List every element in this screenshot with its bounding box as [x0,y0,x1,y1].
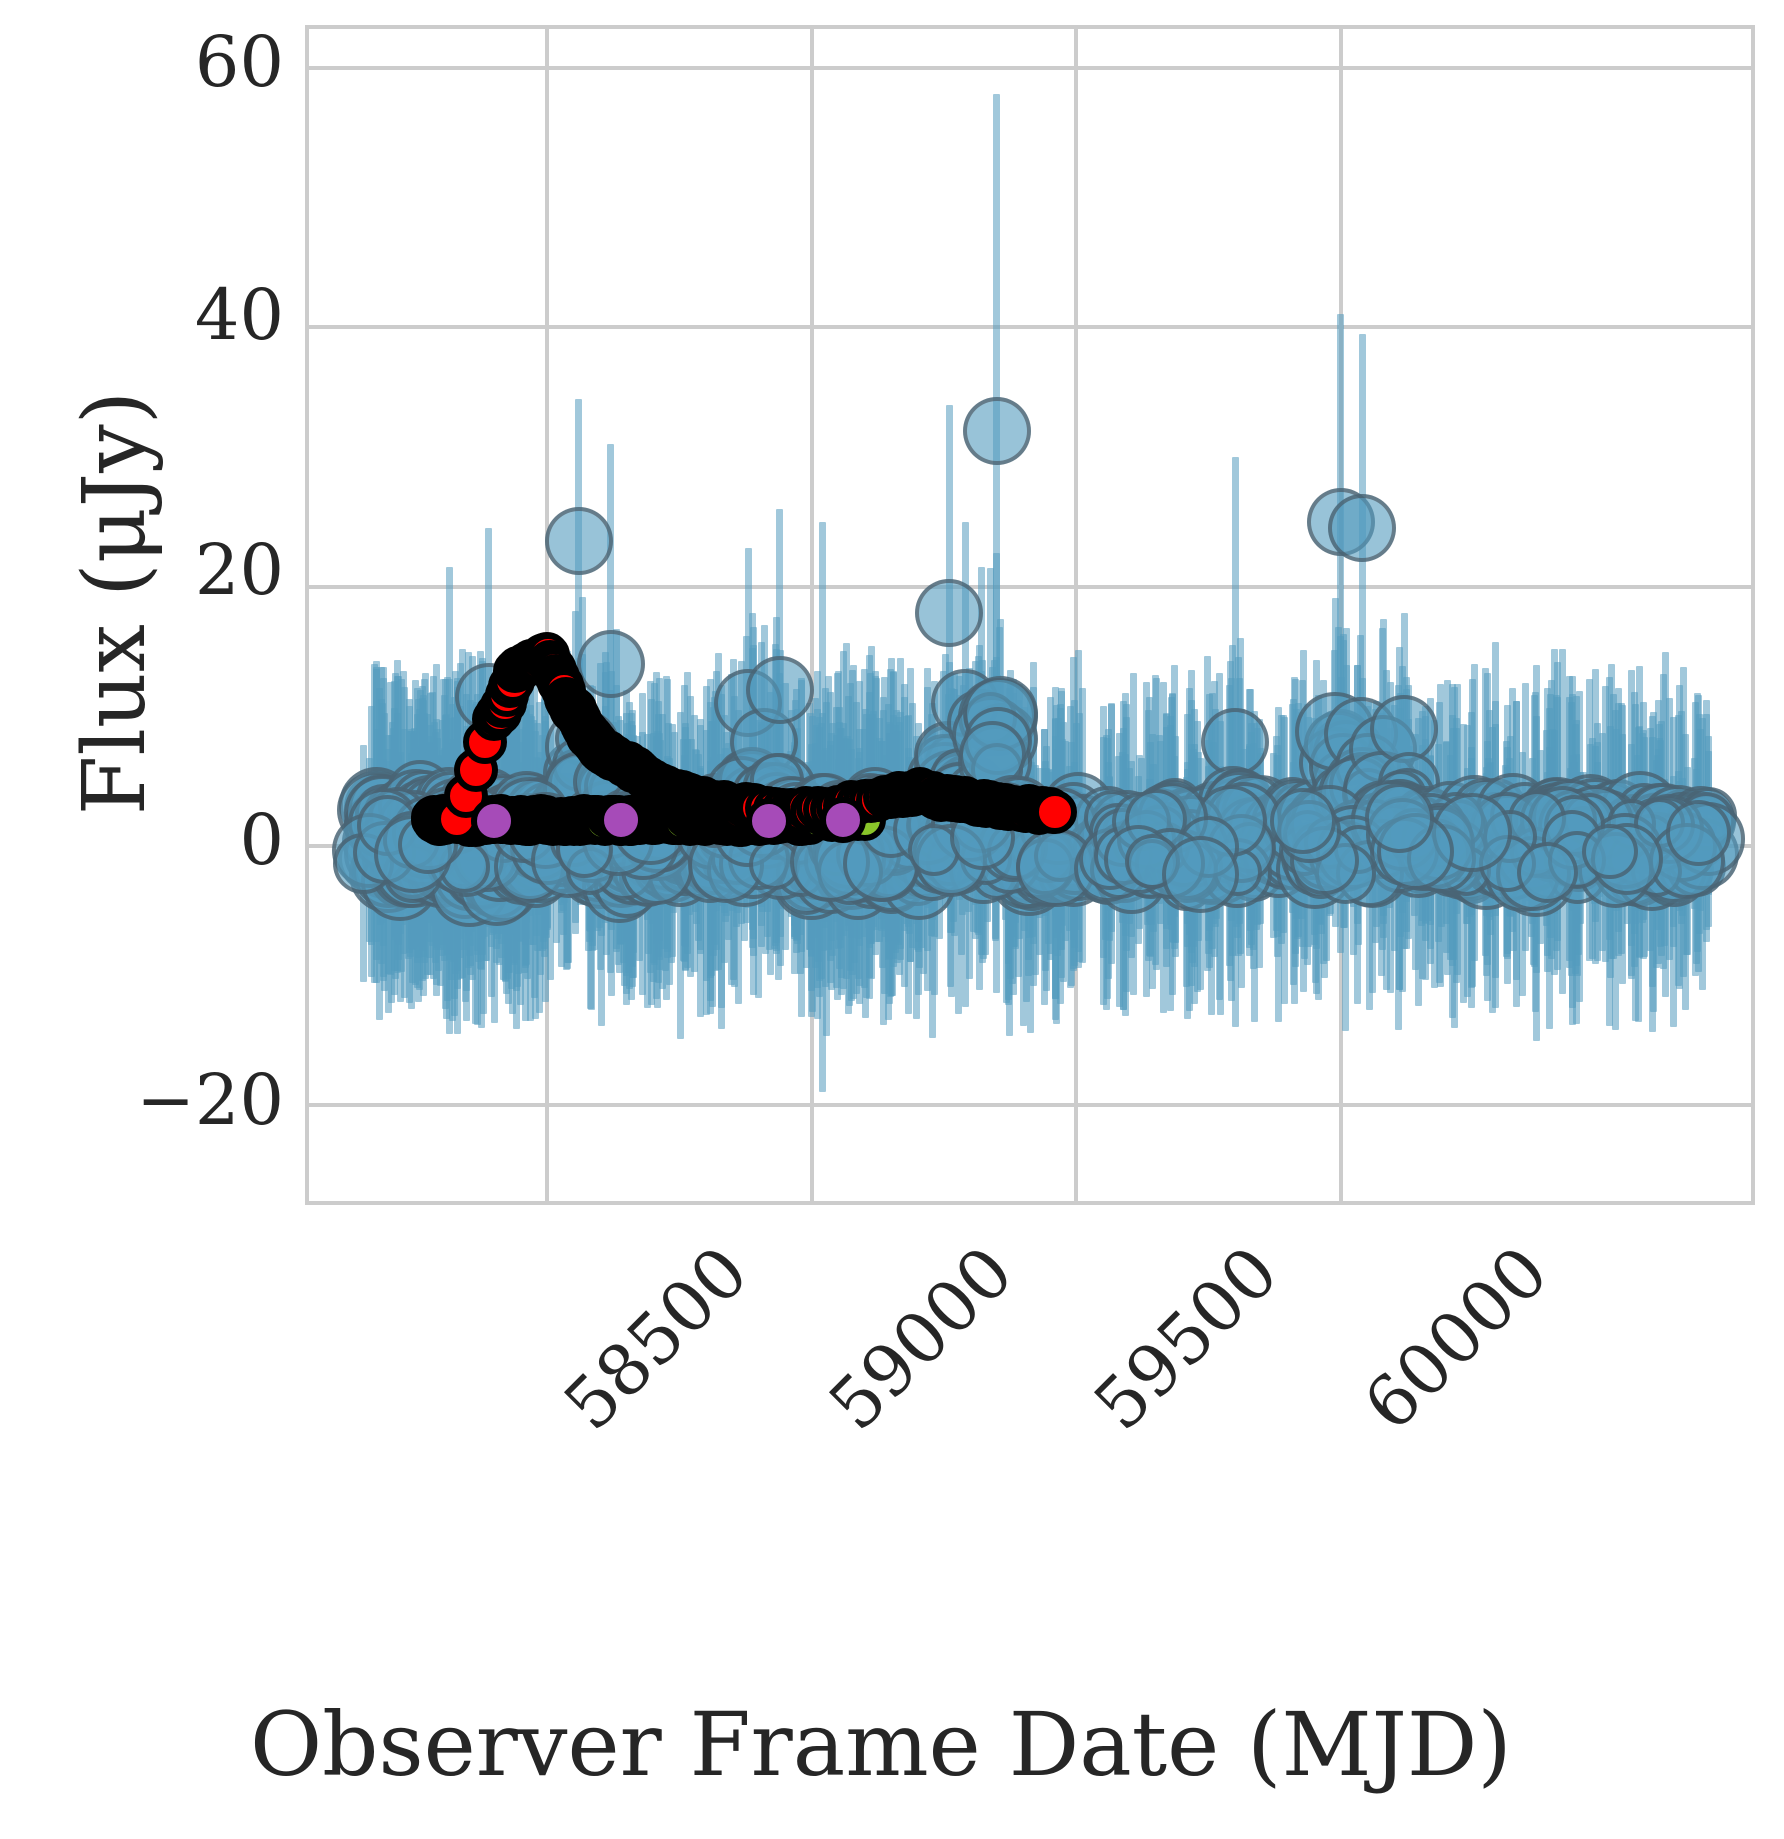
y-tick-60: 60 [195,27,284,97]
data-point-blue [915,579,983,647]
plot-area[interactable] [305,25,1755,1205]
gridline-horizontal [309,325,1751,329]
y-tick-0: 0 [239,805,284,875]
x-axis-label: Observer Frame Date (MJD) [250,1690,1784,1800]
gridline-horizontal [309,1103,1751,1107]
y-tick-40: 40 [195,280,284,350]
data-point-blue [1582,824,1638,880]
y-tick-20: 20 [195,535,284,605]
data-point-blue [1162,836,1239,913]
gridline-vertical [810,29,814,1201]
data-point-blue [577,630,645,698]
data-point-blue [746,656,814,724]
data-point-blue [1365,783,1435,853]
data-point-blue [1517,842,1578,903]
gridline-horizontal [309,66,1751,70]
gridline-vertical [545,29,549,1201]
gridline-horizontal [309,585,1751,589]
y-axis-label: Flux (μJy) [72,283,158,923]
data-point-blue [1270,788,1336,854]
data-point-purple [598,797,644,843]
y-tick-neg20: −20 [136,1065,284,1135]
data-point-blue [545,507,613,575]
data-point-blue [1328,494,1396,562]
data-point-blue [963,397,1031,465]
figure-root: 60 40 20 0 −20 Flux (μJy) 58500 59000 59… [0,0,1784,1839]
data-point-blue [1666,800,1731,865]
gridline-vertical [1074,29,1078,1201]
